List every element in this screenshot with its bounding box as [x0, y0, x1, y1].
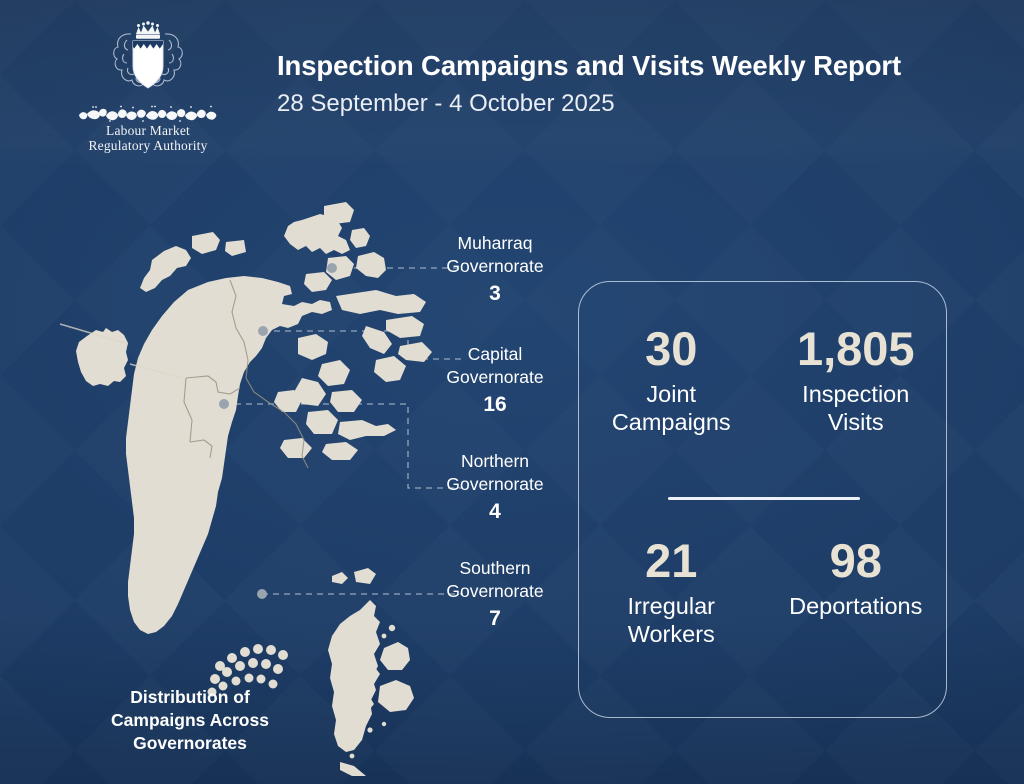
stat-label-line2: Workers — [585, 620, 758, 648]
report-header: Labour Market Regulatory Authority Inspe… — [0, 0, 1024, 168]
governorate-name-line1: Southern — [390, 557, 600, 580]
governorate-name-line1: Muharraq — [390, 232, 600, 255]
stats-row-bottom: 21 Irregular Workers 98 Deportations — [579, 534, 948, 648]
map-caption-line1: Distribution of — [60, 686, 320, 709]
governorate-name-line1: Northern — [390, 450, 600, 473]
bahrain-coat-of-arms-icon — [105, 14, 191, 100]
stat-value: 30 — [585, 322, 758, 376]
stats-divider — [668, 497, 860, 500]
governorate-callout-capital: Capital Governorate 16 — [390, 343, 600, 418]
governorate-value: 7 — [390, 606, 600, 632]
governorate-callout-northern: Northern Governorate 4 — [390, 450, 600, 525]
map-caption: Distribution of Campaigns Across Governo… — [60, 686, 320, 755]
governorate-value: 16 — [390, 392, 600, 418]
stats-row-top: 30 Joint Campaigns 1,805 Inspection Visi… — [579, 322, 948, 436]
governorate-name-line2: Governorate — [390, 255, 600, 278]
stat-label-line2: Visits — [770, 408, 943, 436]
page-title: Inspection Campaigns and Visits Weekly R… — [277, 50, 901, 82]
map-caption-line2: Campaigns Across — [60, 709, 320, 732]
logo-english-line1: Labour Market — [62, 123, 234, 138]
governorate-callout-southern: Southern Governorate 7 — [390, 557, 600, 632]
stat-label-line2: Campaigns — [585, 408, 758, 436]
stat-label-line1: Deportations — [770, 592, 943, 620]
stat-irregular-workers: 21 Irregular Workers — [579, 534, 764, 648]
governorate-name-line2: Governorate — [390, 366, 600, 389]
stat-value: 98 — [770, 534, 943, 588]
lmra-logo: Labour Market Regulatory Authority — [62, 14, 234, 153]
logo-english-line2: Regulatory Authority — [62, 138, 234, 153]
stat-deportations: 98 Deportations — [764, 534, 949, 648]
stat-inspection-visits: 1,805 Inspection Visits — [764, 322, 949, 436]
stat-joint-campaigns: 30 Joint Campaigns — [579, 322, 764, 436]
stat-label-line1: Joint — [585, 380, 758, 408]
logo-arabic-text — [73, 102, 223, 123]
map-caption-line3: Governorates — [60, 732, 320, 755]
summary-stats-card: 30 Joint Campaigns 1,805 Inspection Visi… — [578, 281, 947, 718]
stat-label-line1: Inspection — [770, 380, 943, 408]
governorate-callout-muharraq: Muharraq Governorate 3 — [390, 232, 600, 307]
stat-value: 21 — [585, 534, 758, 588]
stat-value: 1,805 — [770, 322, 943, 376]
title-block: Inspection Campaigns and Visits Weekly R… — [277, 50, 901, 118]
report-date-range: 28 September - 4 October 2025 — [277, 90, 901, 118]
governorate-name-line1: Capital — [390, 343, 600, 366]
stat-label-line1: Irregular — [585, 592, 758, 620]
infographic-page: Labour Market Regulatory Authority Inspe… — [0, 0, 1024, 784]
governorate-value: 3 — [390, 281, 600, 307]
governorate-value: 4 — [390, 499, 600, 525]
governorate-name-line2: Governorate — [390, 473, 600, 496]
governorate-name-line2: Governorate — [390, 580, 600, 603]
